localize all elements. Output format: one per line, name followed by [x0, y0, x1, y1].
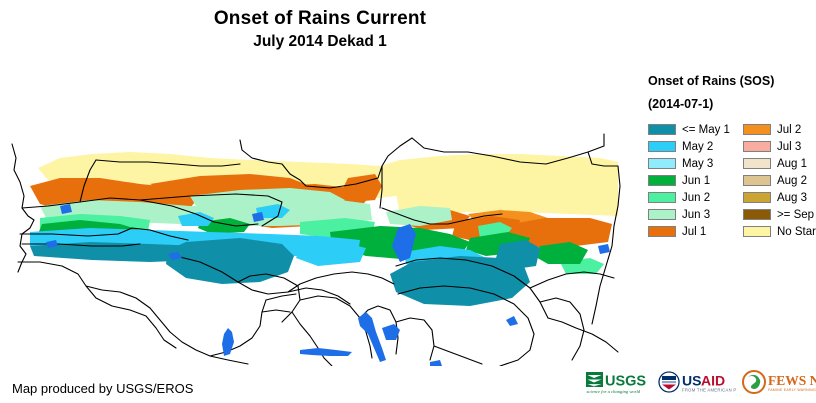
legend-swatch-jul3	[743, 141, 771, 152]
sos-raster-layer	[30, 152, 618, 306]
legend-label-jul2: Jul 2	[777, 124, 801, 136]
legend-label-jun3: Jun 3	[682, 209, 710, 221]
legend-label-aug3: Aug 3	[777, 192, 807, 204]
usgs-wordmark: USGS	[605, 374, 646, 390]
usaid-wordmark-aid: AID	[701, 373, 725, 389]
west-africa-sos-map[interactable]	[0, 66, 640, 366]
legend-item-jul1[interactable]: Jul 1	[648, 223, 730, 240]
legend-label-jul1: Jul 1	[682, 226, 706, 238]
legend-label-le-may1: <= May 1	[682, 124, 730, 136]
usaid-seal-icon	[659, 372, 679, 392]
legend-column-right: Jul 2 Jul 3 Aug 1 Aug 2 Aug 3 >= Sep 1	[743, 121, 816, 240]
legend-swatch-no-start	[743, 226, 771, 237]
map-panel[interactable]	[0, 66, 640, 366]
legend-panel: Onset of Rains (SOS) (2014-07-1) <= May …	[648, 74, 816, 240]
logo-strip: USGS science for a changing world US AID…	[586, 366, 816, 400]
legend-label-jun2: Jun 2	[682, 192, 710, 204]
legend-swatch-jun3	[648, 209, 676, 220]
usgs-tagline: science for a changing world	[587, 389, 641, 394]
legend-swatch-jul2	[743, 124, 771, 135]
fewsnet-logo: FEWS NET FAMINE EARLY WARNING SYSTEMS NE…	[742, 369, 816, 397]
legend-label-jul3: Jul 3	[777, 141, 801, 153]
legend-swatch-may3	[648, 158, 676, 169]
legend-swatch-aug2	[743, 175, 771, 186]
legend-label-jun1: Jun 1	[682, 175, 710, 187]
fewsnet-tagline: FAMINE EARLY WARNING SYSTEMS NETWORK	[768, 388, 816, 392]
legend-label-ge-sep1: >= Sep 1	[777, 209, 816, 221]
legend-item-jul2[interactable]: Jul 2	[743, 121, 816, 138]
legend-item-le-may1[interactable]: <= May 1	[648, 121, 730, 138]
legend-swatch-le-may1	[648, 124, 676, 135]
legend-label-aug1: Aug 1	[777, 158, 807, 170]
usaid-logo: US AID FROM THE AMERICAN PEOPLE	[658, 370, 736, 396]
legend-item-jun2[interactable]: Jun 2	[648, 189, 730, 206]
map-credit: Map produced by USGS/EROS	[12, 381, 193, 397]
legend-item-aug2[interactable]: Aug 2	[743, 172, 816, 189]
legend-item-may3[interactable]: May 3	[648, 155, 730, 172]
legend-swatch-jun1	[648, 175, 676, 186]
legend-item-jun3[interactable]: Jun 3	[648, 206, 730, 223]
legend-item-ge-sep1[interactable]: >= Sep 1	[743, 206, 816, 223]
legend-swatch-may2	[648, 141, 676, 152]
legend-item-jul3[interactable]: Jul 3	[743, 138, 816, 155]
legend-swatch-jul1	[648, 226, 676, 237]
legend-item-jun1[interactable]: Jun 1	[648, 172, 730, 189]
legend-swatch-aug3	[743, 192, 771, 203]
legend-column-left: <= May 1 May 2 May 3 Jun 1 Jun 2 Jun 3	[648, 121, 730, 240]
legend-swatch-ge-sep1	[743, 209, 771, 220]
legend-swatch-aug1	[743, 158, 771, 169]
legend-swatch-jun2	[648, 192, 676, 203]
fewsnet-globe-icon	[743, 371, 765, 393]
legend-item-may2[interactable]: May 2	[648, 138, 730, 155]
usgs-logo: USGS science for a changing world	[586, 370, 652, 396]
page-title: Onset of Rains Current	[0, 8, 640, 30]
usaid-tagline: FROM THE AMERICAN PEOPLE	[682, 388, 736, 393]
legend-label-may3: May 3	[682, 158, 713, 170]
page-subtitle: July 2014 Dekad 1	[0, 32, 640, 52]
legend-item-no-start[interactable]: No Start	[743, 223, 816, 240]
legend-date: (2014-07-1)	[648, 97, 816, 112]
legend-title: Onset of Rains (SOS)	[648, 74, 816, 89]
legend-label-may2: May 2	[682, 141, 713, 153]
legend-item-aug1[interactable]: Aug 1	[743, 155, 816, 172]
legend-item-aug3[interactable]: Aug 3	[743, 189, 816, 206]
legend-label-aug2: Aug 2	[777, 175, 807, 187]
usaid-wordmark-us: US	[682, 373, 701, 389]
legend-columns: <= May 1 May 2 May 3 Jun 1 Jun 2 Jun 3	[648, 121, 816, 240]
legend-label-no-start: No Start	[777, 226, 816, 238]
title-block: Onset of Rains Current July 2014 Dekad 1	[0, 0, 640, 52]
fewsnet-wordmark: FEWS NET	[768, 373, 816, 388]
